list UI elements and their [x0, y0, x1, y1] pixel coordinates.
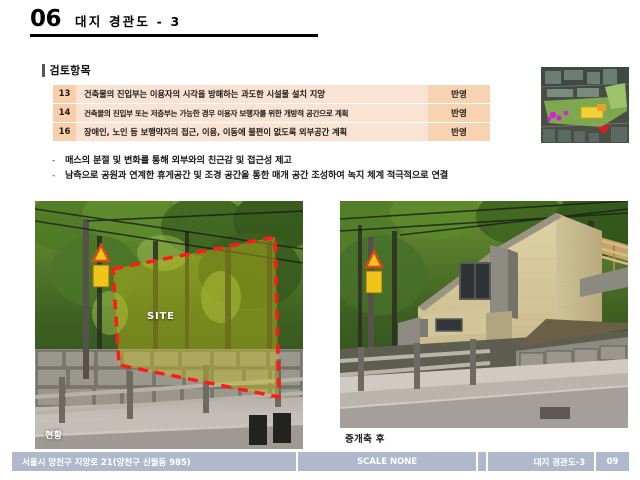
photo-caption-existing: 현황	[45, 428, 62, 441]
section-heading-label: 검토항목	[50, 62, 91, 78]
list-item: - 남측으로 공원과 연계한 휴게공간 및 조경 공간을 통한 매개 공간 조성…	[52, 171, 612, 181]
aerial-map-graphic	[541, 67, 629, 143]
table-row: 13 건축물의 진입부는 이용자의 시각을 방해하는 과도한 시설물 설치 지양…	[53, 85, 490, 104]
footer-page-number: 09	[596, 452, 629, 471]
page-footer: 서울시 양천구 지양로 21(양천구 신월동 985) SCALE NONE 대…	[12, 452, 629, 471]
row-description: 장애인, 노인 등 보행약자의 접근, 이용, 이동에 불편이 없도록 외부공간…	[76, 123, 428, 142]
bullet-marker: -	[52, 157, 58, 166]
proposed-rendering-photo	[340, 201, 628, 428]
footer-drawing-title: 대지 경관도-3	[488, 452, 594, 471]
page-header: 06 대지 경관도 - 3	[30, 8, 318, 44]
existing-condition-photo: SITE 현황	[35, 201, 303, 449]
header-title-row: 06 대지 경관도 - 3	[30, 8, 318, 34]
row-number: 16	[53, 123, 76, 142]
review-items-table: 13 건축물의 진입부는 이용자의 시각을 방해하는 과도한 시설물 설치 지양…	[53, 85, 490, 142]
notes-list: - 매스의 분절 및 변화를 통해 외부와의 친근감 및 접근성 제고 - 남측…	[52, 156, 612, 186]
section-accent-bar	[42, 64, 45, 77]
row-number: 14	[53, 104, 76, 123]
footer-scale: SCALE NONE	[298, 452, 476, 471]
site-label: SITE	[147, 311, 175, 322]
page-title: 대지 경관도 - 3	[75, 16, 181, 29]
page-number: 06	[30, 8, 61, 31]
bullet-marker: -	[52, 172, 58, 181]
row-result-badge: 반영	[428, 123, 490, 142]
footer-address: 서울시 양천구 지양로 21(양천구 신월동 985)	[12, 452, 296, 471]
row-result-badge: 반영	[428, 104, 490, 123]
row-result-badge: 반영	[428, 85, 490, 104]
table-row: 14 건축물의 진입부 또는 저층부는 가능한 경우 이용자 보행자를 위한 개…	[53, 104, 490, 123]
bullet-text: 매스의 분절 및 변화를 통해 외부와의 친근감 및 접근성 제고	[65, 156, 292, 165]
photo-caption-proposed: 증개축 후	[345, 431, 385, 445]
row-description: 건축물의 진입부 또는 저층부는 가능한 경우 이용자 보행자를 위한 개방적 …	[76, 104, 428, 123]
site-location-aerial-map	[541, 67, 629, 143]
section-heading: 검토항목	[42, 62, 91, 78]
footer-spacer	[478, 452, 486, 471]
existing-condition-photo-graphic	[35, 201, 303, 449]
header-divider	[30, 34, 318, 37]
row-number: 13	[53, 85, 76, 104]
list-item: - 매스의 분절 및 변화를 통해 외부와의 친근감 및 접근성 제고	[52, 156, 612, 166]
table-row: 16 장애인, 노인 등 보행약자의 접근, 이용, 이동에 불편이 없도록 외…	[53, 123, 490, 142]
proposed-rendering-graphic	[340, 201, 628, 428]
row-description: 건축물의 진입부는 이용자의 시각을 방해하는 과도한 시설물 설치 지양	[76, 85, 428, 104]
bullet-text: 남측으로 공원과 연계한 휴게공간 및 조경 공간을 통한 매개 공간 조성하여…	[65, 171, 448, 180]
